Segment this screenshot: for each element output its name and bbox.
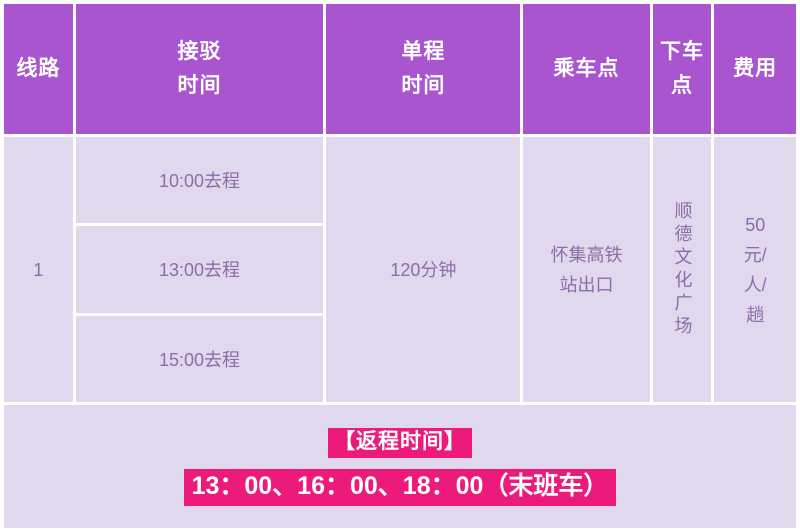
column-header-fee: 费用 (714, 4, 796, 134)
return-schedule-times: 13：00、16：00、18：00（末班车） (184, 469, 617, 506)
cell-oneway-duration: 120分钟 (326, 137, 520, 402)
column-header-boarding-point: 乘车点 (523, 4, 649, 134)
column-header-oneway-time: 单程 时间 (326, 4, 520, 134)
column-header-route: 线路 (4, 4, 73, 134)
table-body-row: 1 10:00去程 13:00去程 15:00去程 120分钟 怀集高铁站出口 … (4, 137, 796, 402)
column-header-route-line-1: 线路 (16, 52, 60, 86)
column-header-oneway-time-line-1: 单程 (401, 35, 445, 69)
return-schedule-title: 【返程时间】 (328, 428, 472, 458)
return-schedule-footer: 【返程时间】 13：00、16：00、18：00（末班车） (4, 405, 796, 528)
shuttle-time-item: 13:00去程 (76, 226, 324, 312)
column-header-dropoff-point-line-1: 下车 (660, 35, 704, 69)
shuttle-schedule-table: 线路 接驳 时间 单程 时间 乘车点 下车 点 费用 1 10:00去程 13:… (4, 4, 796, 528)
column-header-dropoff-point: 下车 点 (653, 4, 712, 134)
table-header-row: 线路 接驳 时间 单程 时间 乘车点 下车 点 费用 (4, 4, 796, 134)
dropoff-point-text: 顺德文化广场 (673, 201, 692, 339)
column-header-shuttle-time-line-1: 接驳 (178, 35, 222, 69)
shuttle-time-item: 15:00去程 (76, 316, 324, 402)
cell-route-number: 1 (4, 137, 73, 402)
fee-text: 50元/人/趟 (741, 210, 769, 330)
cell-fee: 50元/人/趟 (714, 137, 796, 402)
boarding-point-text: 怀集高铁站出口 (549, 240, 625, 300)
cell-shuttle-times: 10:00去程 13:00去程 15:00去程 (76, 137, 324, 402)
column-header-dropoff-point-line-2: 点 (671, 69, 693, 103)
cell-dropoff-point: 顺德文化广场 (653, 137, 712, 402)
shuttle-time-item: 10:00去程 (76, 137, 324, 223)
cell-boarding-point: 怀集高铁站出口 (523, 137, 649, 402)
column-header-oneway-time-line-2: 时间 (401, 69, 445, 103)
column-header-shuttle-time: 接驳 时间 (76, 4, 324, 134)
column-header-shuttle-time-line-2: 时间 (178, 69, 222, 103)
column-header-fee-line-1: 费用 (733, 52, 777, 86)
column-header-boarding-point-line-1: 乘车点 (554, 52, 620, 86)
